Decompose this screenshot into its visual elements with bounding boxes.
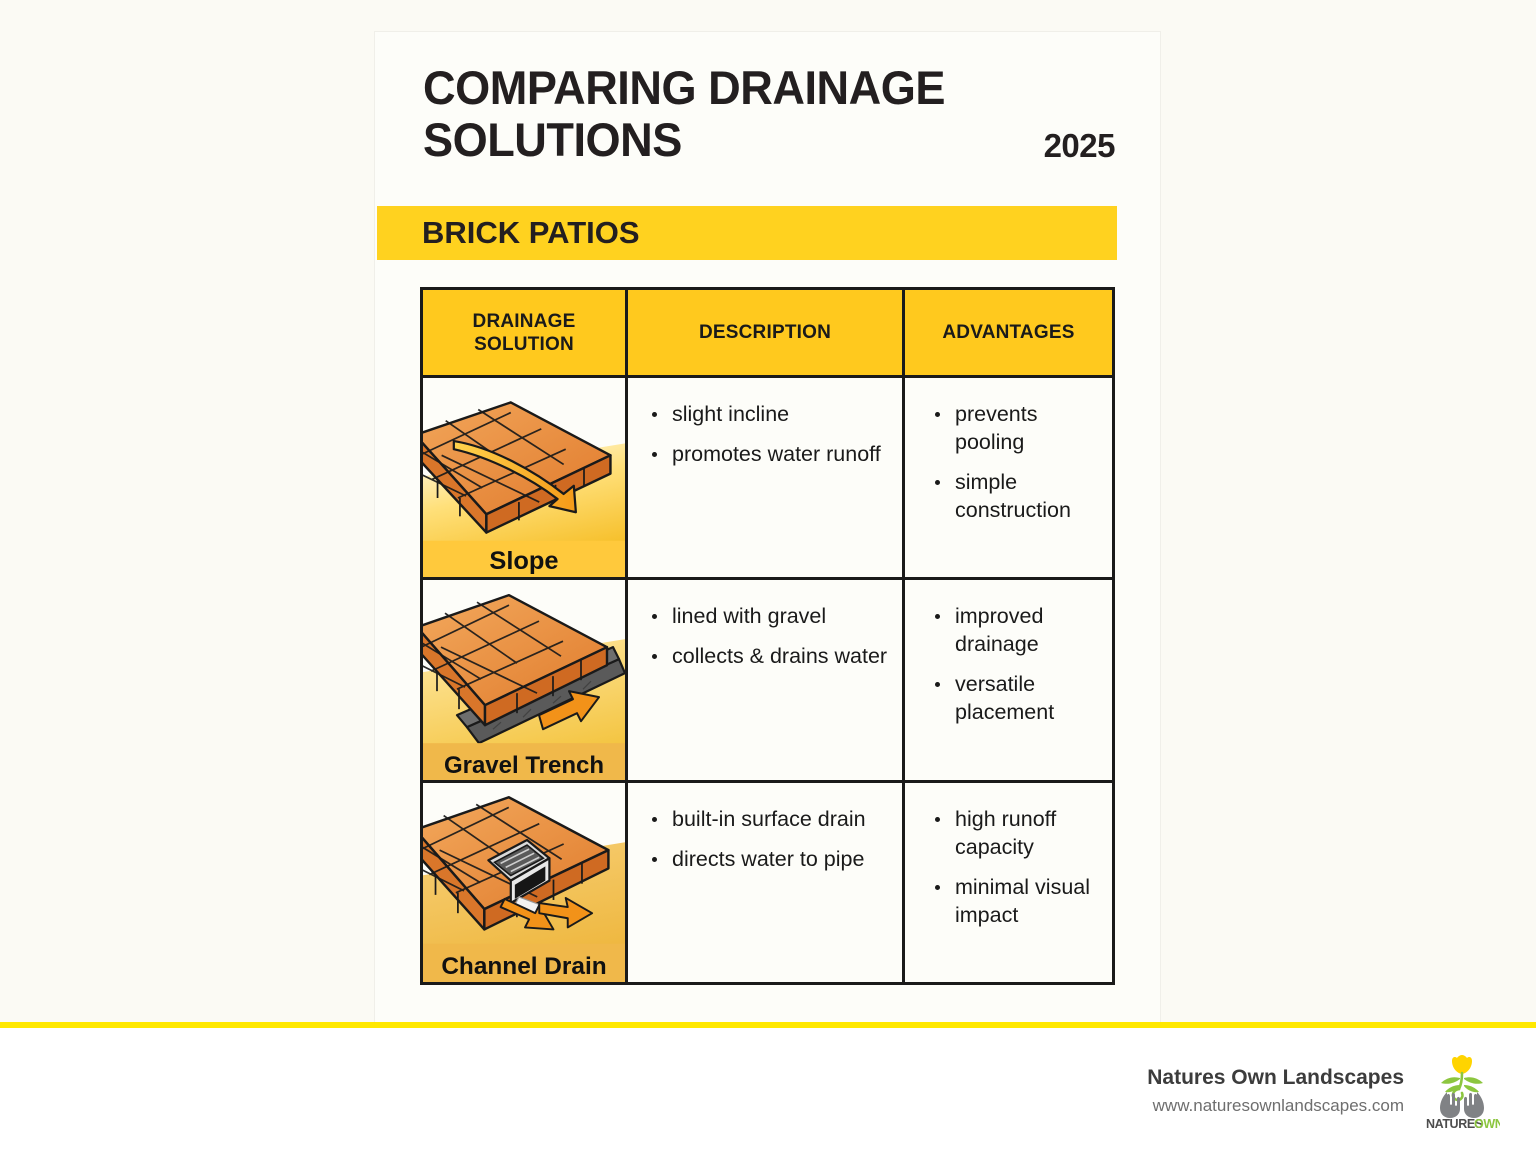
brand-name: Natures Own Landscapes xyxy=(1147,1063,1404,1093)
table-header-drainage-solution-line-1: DRAINAGE xyxy=(473,310,576,333)
cell-illustration-slope: Slope xyxy=(423,378,625,577)
list-item: built-in surface drain xyxy=(646,805,890,833)
footer-divider-rule xyxy=(0,1022,1536,1028)
table-header-advantages: ADVANTAGES xyxy=(902,290,1112,375)
list-item: directs water to pipe xyxy=(646,845,890,873)
list-item: collects & drains water xyxy=(646,642,890,670)
section-banner-label: BRICK PATIOS xyxy=(422,215,640,251)
year-label: 2025 xyxy=(1044,127,1115,165)
table-header-drainage-solution: DRAINAGE SOLUTION xyxy=(423,290,625,375)
list-item: promotes water runoff xyxy=(646,440,890,468)
list-item: high runoff capacity xyxy=(929,805,1100,861)
list-item: prevents pooling xyxy=(929,400,1100,456)
table-row: Slope slight incline promotes water runo… xyxy=(423,378,1112,580)
brand-url: www.naturesownlandscapes.com xyxy=(1147,1093,1404,1119)
brick-patio-gravel-trench-illustration: Gravel Trench xyxy=(423,580,625,779)
table-row: Gravel Trench lined with gravel collects… xyxy=(423,580,1112,782)
comparison-table: DRAINAGE SOLUTION DESCRIPTION ADVANTAGES xyxy=(420,287,1115,985)
description-list: built-in surface drain directs water to … xyxy=(646,805,890,885)
advantages-list: high runoff capacity minimal visual impa… xyxy=(929,805,1100,941)
list-item: versatile placement xyxy=(929,670,1100,726)
svg-text:Gravel Trench: Gravel Trench xyxy=(444,752,604,779)
page-title: COMPARING DRAINAGE SOLUTIONS xyxy=(423,62,1123,166)
description-list: slight incline promotes water runoff xyxy=(646,400,890,480)
footer: Natures Own Landscapes www.naturesownlan… xyxy=(1147,1052,1500,1130)
cell-description-gravel-trench: lined with gravel collects & drains wate… xyxy=(625,580,902,779)
brick-patio-channel-drain-illustration: Channel Drain xyxy=(423,783,625,982)
table-row: Channel Drain built-in surface drain dir… xyxy=(423,783,1112,982)
brick-patio-slope-illustration: Slope xyxy=(423,378,625,577)
description-list: lined with gravel collects & drains wate… xyxy=(646,602,890,682)
svg-text:Slope: Slope xyxy=(489,547,558,575)
cell-description-channel-drain: built-in surface drain directs water to … xyxy=(625,783,902,982)
table-header-row: DRAINAGE SOLUTION DESCRIPTION ADVANTAGES xyxy=(423,290,1112,378)
list-item: improved drainage xyxy=(929,602,1100,658)
advantages-list: improved drainage versatile placement xyxy=(929,602,1100,738)
cell-illustration-channel-drain: Channel Drain xyxy=(423,783,625,982)
svg-text:OWN: OWN xyxy=(1474,1117,1500,1130)
infographic-root: COMPARING DRAINAGE SOLUTIONS 2025 BRICK … xyxy=(0,0,1536,1154)
advantages-list: prevents pooling simple construction xyxy=(929,400,1100,536)
section-banner: BRICK PATIOS xyxy=(377,206,1117,260)
cell-advantages-gravel-trench: improved drainage versatile placement xyxy=(902,580,1112,779)
page-title-line-2: SOLUTIONS xyxy=(423,114,1095,166)
table-header-drainage-solution-line-2: SOLUTION xyxy=(473,333,576,356)
cell-description-slope: slight incline promotes water runoff xyxy=(625,378,902,577)
list-item: lined with gravel xyxy=(646,602,890,630)
cell-advantages-slope: prevents pooling simple construction xyxy=(902,378,1112,577)
natures-own-hands-tulip-logo: NATURES OWN xyxy=(1424,1052,1500,1130)
cell-illustration-gravel-trench: Gravel Trench xyxy=(423,580,625,779)
footer-brand-text: Natures Own Landscapes www.naturesownlan… xyxy=(1147,1063,1404,1119)
list-item: slight incline xyxy=(646,400,890,428)
svg-text:Channel Drain: Channel Drain xyxy=(441,953,606,980)
list-item: minimal visual impact xyxy=(929,873,1100,929)
page-title-line-1: COMPARING DRAINAGE xyxy=(423,62,1095,114)
infographic-page: COMPARING DRAINAGE SOLUTIONS 2025 BRICK … xyxy=(375,32,1160,1024)
cell-advantages-channel-drain: high runoff capacity minimal visual impa… xyxy=(902,783,1112,982)
table-header-description: DESCRIPTION xyxy=(625,290,902,375)
list-item: simple construction xyxy=(929,468,1100,524)
